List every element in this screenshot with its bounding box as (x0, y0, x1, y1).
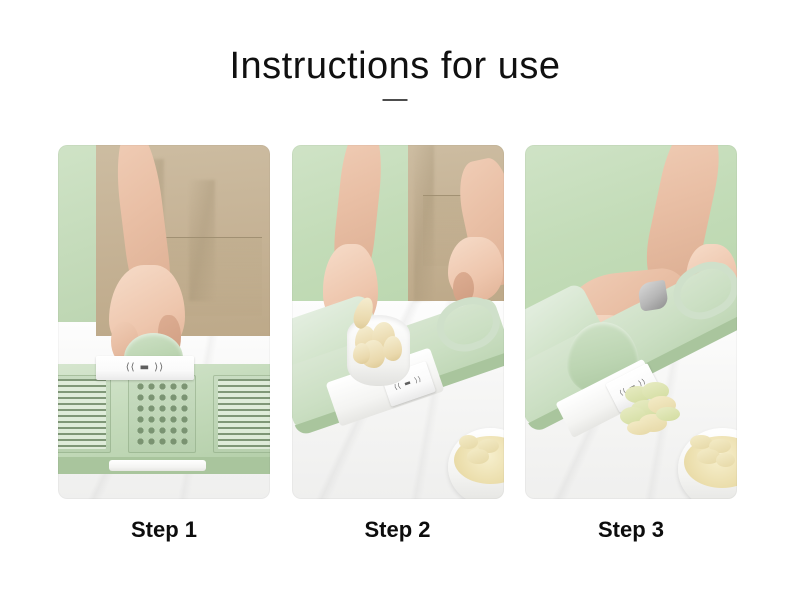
step-3-image[interactable]: ⟨⟨ ▬ ⟩⟩ (525, 145, 737, 499)
step-1-image[interactable]: ⟨⟨ ▬ ⟩⟩ (58, 145, 270, 499)
title-divider (383, 99, 408, 101)
page-header: Instructions for use (0, 0, 790, 130)
panel-border (292, 145, 504, 499)
step-image-row: ⟨⟨ ▬ ⟩⟩ (58, 145, 737, 499)
step-caption-row: Step 1 Step 2 Step 3 (58, 515, 737, 555)
panel-border (58, 145, 270, 499)
panel-border (525, 145, 737, 499)
step-2-caption: Step 2 (292, 515, 504, 555)
step-2-image[interactable]: ⟨⟨ ▬ ⟩⟩ (292, 145, 504, 499)
page-title: Instructions for use (0, 44, 790, 88)
step-1-caption: Step 1 (58, 515, 270, 555)
step-3-caption: Step 3 (525, 515, 737, 555)
